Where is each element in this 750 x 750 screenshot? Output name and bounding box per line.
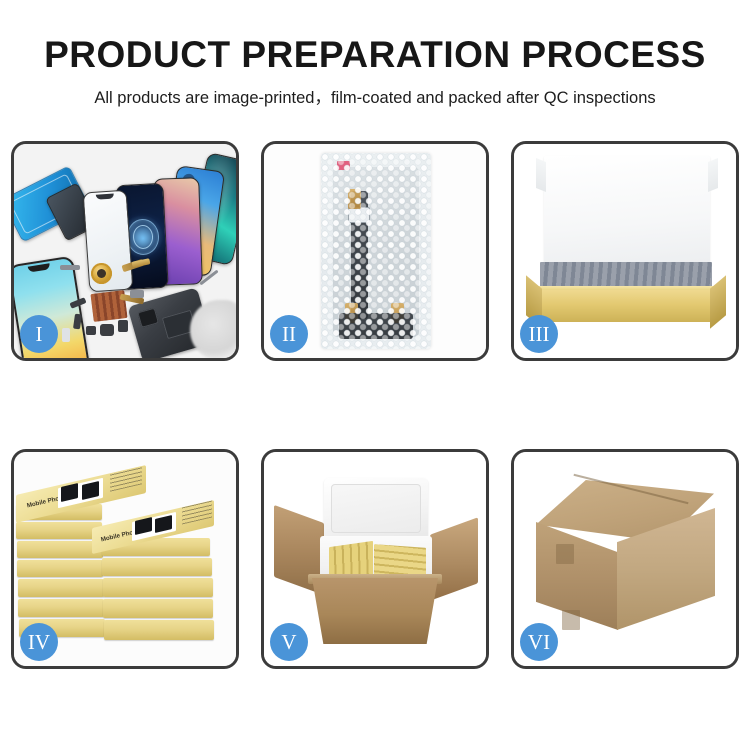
carton-hand-hole-top [556,544,574,564]
hand-blur-background [190,300,236,358]
step-badge-5: V [270,623,308,661]
step-1-image: I [14,144,236,358]
stacked-box [103,578,213,597]
stacked-box [16,522,102,539]
bubble-wrap-bag [321,153,431,349]
step-panel-1: I [11,141,239,361]
step-6-image: VI [514,452,736,666]
box-front-panel-kraft [534,290,718,322]
bubble-texture-overlay [321,153,431,349]
stacked-box [18,599,104,617]
step-4-image: Mobile Phone Spare Parts Mobile Phone Sp… [14,452,236,666]
step-badge-2: II [270,315,308,353]
stacked-box [103,599,213,618]
carton-hand-hole-bottom [562,610,580,630]
shield-plate-part [130,290,144,298]
step-badge-4: IV [20,623,58,661]
stacked-box [18,579,104,597]
step-3-image: III [514,144,736,358]
stacked-box [102,558,212,576]
sim-tray-part [62,328,70,342]
step-5-image: V [264,452,486,666]
foam-box-lid [324,478,428,540]
step-badge-6: VI [520,623,558,661]
stacked-box [17,560,103,577]
step-badge-1: I [20,315,58,353]
stacked-box [104,620,214,640]
stacked-box [17,541,103,558]
step-panel-2: II [261,141,489,361]
copper-coil-part [91,263,112,284]
step-panel-5: V [261,449,489,669]
box-lid-open [544,156,710,266]
vibrator-part [118,320,128,332]
process-steps-grid: I II [0,0,750,750]
step-2-image: II [264,144,486,358]
step-panel-3: III [511,141,739,361]
camera-module [137,308,159,328]
carton-body [312,578,438,644]
camera-lens-part [100,324,114,336]
step-badge-3: III [520,315,558,353]
step-panel-6: VI [511,449,739,669]
spare-part-strip [60,265,80,270]
speaker-part [86,326,96,335]
step-panel-4: Mobile Phone Spare Parts Mobile Phone Sp… [11,449,239,669]
